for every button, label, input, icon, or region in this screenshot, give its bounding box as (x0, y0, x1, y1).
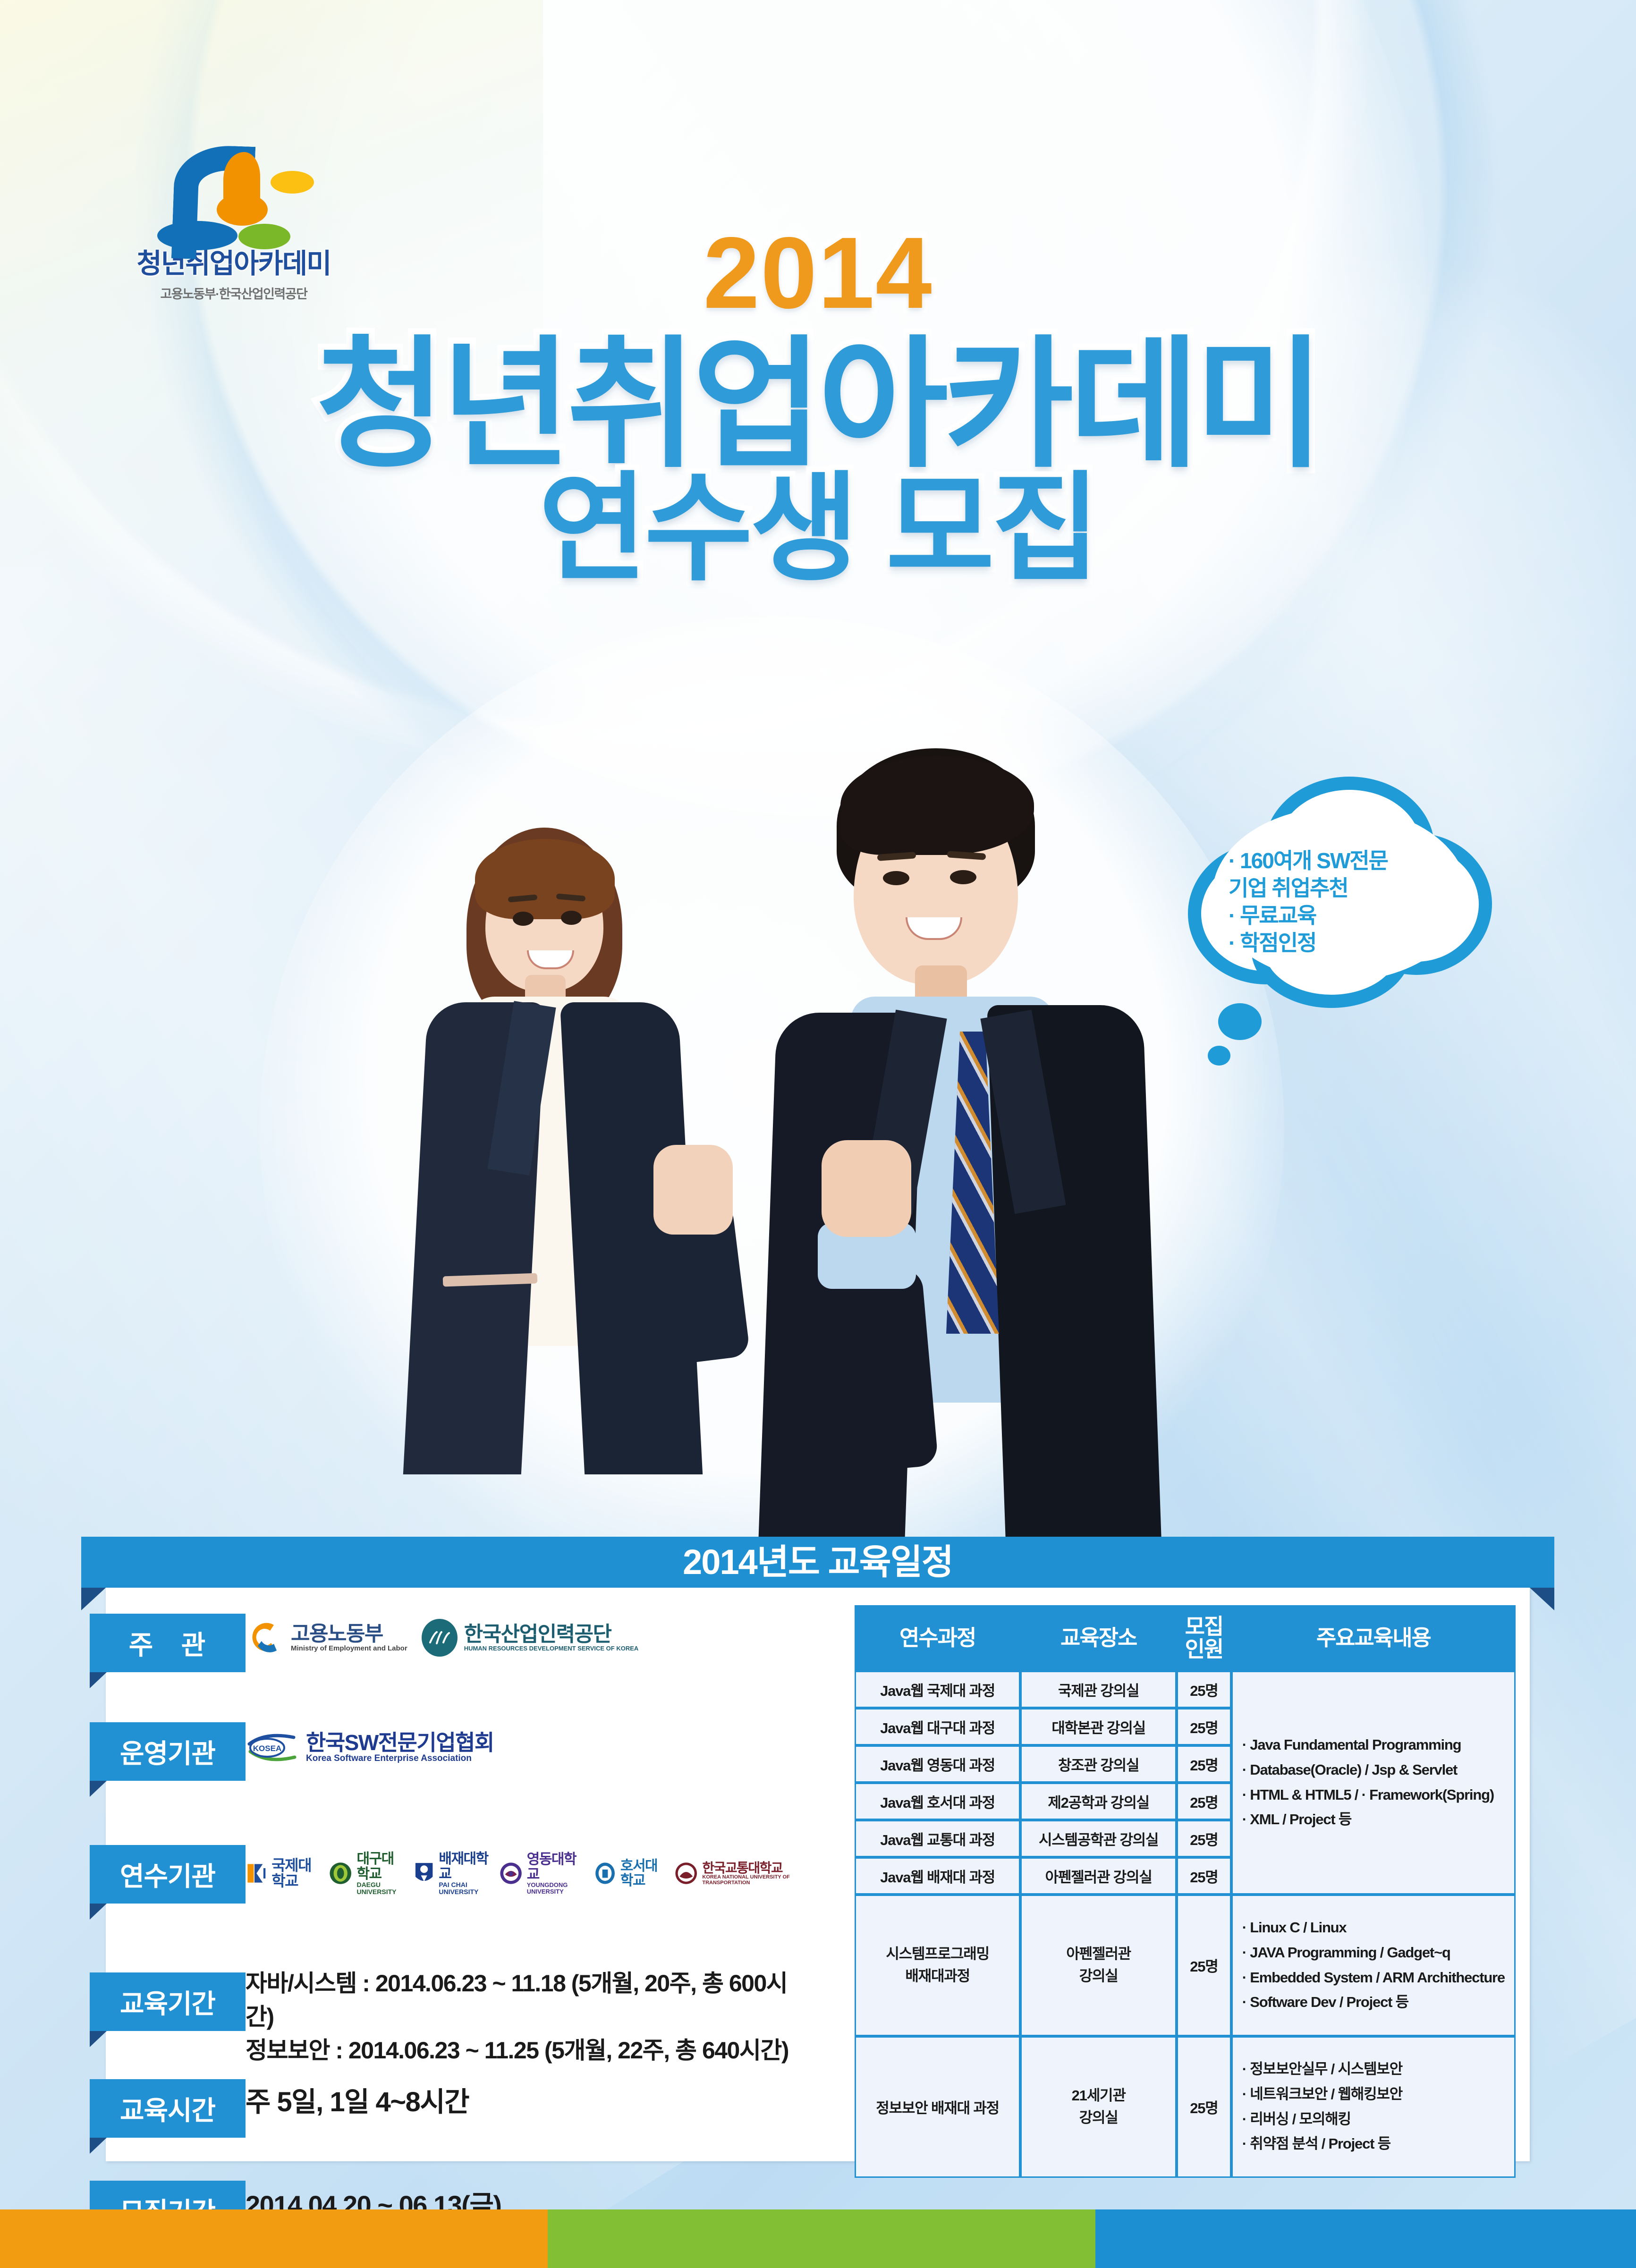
logo-kr: 대구대학교 (356, 1852, 405, 1881)
row-label-host: 주 관 (90, 1614, 246, 1672)
hoseo-university-logo-icon (594, 1858, 616, 1889)
institution-logos: 국제대학교 대구대학교 DAEGU UNIVERSITY (246, 1852, 803, 1895)
logo-kr: 한국산업인력공단 (464, 1624, 639, 1645)
footer-bar-orange (0, 2209, 548, 2268)
cell-place: 아펜젤러관 강의실 (1020, 1857, 1177, 1895)
content-line: · Database(Oracle) / Jsp & Servlet (1242, 1758, 1505, 1783)
headline-subtitle: 연수생 모집 (0, 467, 1636, 591)
hrdkorea-logo-icon (420, 1618, 459, 1658)
row-label-institutions: 연수기관 (90, 1845, 246, 1904)
cell-place: 시스템공학관 강의실 (1020, 1820, 1177, 1857)
knut-university-logo: 한국교통대학교 KOREA NATIONAL UNIVERSITY OF TRA… (675, 1857, 803, 1890)
info-row-institutions: 연수기관 국제대학교 (0, 1822, 803, 1959)
youngdong-university-logo: 영동대학교 YOUNGDONG UNIVERSITY (500, 1852, 585, 1895)
logo-kr: 영동대학교 (527, 1852, 585, 1882)
logo-en: KOREA NATIONAL UNIVERSITY OF TRANSPORTAT… (702, 1875, 803, 1886)
daegu-university-logo: 대구대학교 DAEGU UNIVERSITY (329, 1852, 405, 1895)
content-line: · HTML & HTML5 / · Framework(Spring) (1242, 1783, 1505, 1808)
logo-en: Ministry of Employment and Labor (291, 1645, 407, 1652)
knut-university-logo-icon (675, 1857, 697, 1890)
info-row-period: 교육기간 자바/시스템 : 2014.06.23 ~ 11.18 (5개월, 2… (0, 1959, 803, 2073)
table-header-row: 연수과정 교육장소 모집 인원 주요교육내용 (855, 1605, 1516, 1671)
footer-bar-green (548, 2209, 1095, 2268)
youngdong-university-logo-icon (500, 1858, 522, 1889)
cell-course: Java웹 국제대 과정 (855, 1671, 1020, 1708)
moel-logo: 고용노동부 Ministry of Employment and Labor (246, 1617, 407, 1658)
content-line: · Linux C / Linux (1242, 1915, 1505, 1940)
logo-kr: 국제대학교 (271, 1858, 320, 1889)
paichai-university-logo: 배재대학교 PAI CHAI UNIVERSITY (414, 1852, 490, 1895)
footer-bar-blue (1095, 2209, 1636, 2268)
table-row: 시스템프로그래밍 배재대과정 아펜젤러관 강의실 25명 · Linux C /… (855, 1895, 1516, 2036)
footer-color-bar (0, 2209, 1636, 2268)
daegu-university-logo-icon (329, 1858, 352, 1889)
content-line: · 네트워크보안 / 웹해킹보안 (1242, 2082, 1505, 2107)
cell-place: 창조관 강의실 (1020, 1745, 1177, 1783)
content-line: · JAVA Programming / Gadget~q (1242, 1940, 1505, 1965)
bubble-tail-large (1218, 1003, 1262, 1040)
cell-place: 대학본관 강의실 (1020, 1708, 1177, 1745)
cell-place: 21세기관 강의실 (1020, 2036, 1177, 2178)
moel-logo-icon (246, 1617, 286, 1658)
cell-quota: 25명 (1177, 1783, 1231, 1820)
cell-quota: 25명 (1177, 1820, 1231, 1857)
logo-kr: 한국교통대학교 (702, 1861, 803, 1875)
logo-en: PAI CHAI UNIVERSITY (439, 1881, 490, 1895)
paichai-university-logo-icon (414, 1857, 434, 1889)
logo-kr: 호서대학교 (620, 1859, 665, 1888)
brand-logo: 청년취업아카데미 고용노동부·한국산업인력공단 (120, 142, 347, 302)
cell-course: Java웹 대구대 과정 (855, 1708, 1020, 1745)
cell-course: Java웹 영동대 과정 (855, 1745, 1020, 1783)
header-fold-right-icon (1530, 1588, 1554, 1610)
cell-course: Java웹 호서대 과정 (855, 1783, 1020, 1820)
content-line: · 리버싱 / 모의해킹 (1242, 2107, 1505, 2132)
hoseo-university-logo: 호서대학교 (594, 1858, 665, 1889)
col-course: 연수과정 (855, 1605, 1020, 1671)
info-rows: 주 관 고용노동부 Ministry of Employment (0, 1605, 803, 2268)
content-line: · 취약점 분석 / Project 등 (1242, 2132, 1505, 2157)
col-quota: 모집 인원 (1177, 1605, 1231, 1671)
brand-subtitle: 고용노동부·한국산업인력공단 (120, 284, 347, 302)
cell-quota: 25명 (1177, 1745, 1231, 1783)
course-table: 연수과정 교육장소 모집 인원 주요교육내용 Java웹 국제대 과정 국제관 … (855, 1605, 1516, 2178)
content-line: · Software Dev / Project 등 (1242, 1990, 1505, 2015)
cell-quota: 25명 (1177, 1708, 1231, 1745)
logo-en: Korea Software Enterprise Association (306, 1754, 494, 1763)
benefits-thought-bubble: · 160여개 SW전문 기업 취업추천 · 무료교육 · 학점인정 (1185, 777, 1497, 1027)
bubble-item: · 학점인정 (1229, 930, 1465, 957)
logo-kr: 배재대학교 (439, 1852, 490, 1881)
logo-kr: 한국SW전문기업협회 (306, 1731, 494, 1754)
row-label-hours: 교육시간 (90, 2079, 246, 2138)
cell-quota: 25명 (1177, 1671, 1231, 1708)
cell-course: Java웹 배재대 과정 (855, 1857, 1020, 1895)
schedule-section-header: 2014년도 교육일정 (81, 1537, 1554, 1588)
content-line: · Java Fundamental Programming (1242, 1733, 1505, 1758)
kookje-university-logo: 국제대학교 (246, 1858, 320, 1889)
poster-root: 청년취업아카데미 고용노동부·한국산업인력공단 2014 청년취업아카데미 연수… (0, 0, 1636, 2268)
schedule-section-title: 2014년도 교육일정 (81, 1537, 1554, 1588)
cell-course: 정보보안 배재대 과정 (855, 2036, 1020, 2178)
row-label-operator: 운영기관 (90, 1722, 246, 1781)
content-line: · Embedded System / ARM Archithecture (1242, 1965, 1505, 1990)
svg-text:KOSEA: KOSEA (253, 1744, 281, 1753)
cell-content-java: · Java Fundamental Programming · Databas… (1231, 1671, 1516, 1895)
cell-quota: 25명 (1177, 2036, 1231, 2178)
cell-quota: 25명 (1177, 1895, 1231, 2036)
headline-title: 청년취업아카데미 (0, 334, 1636, 475)
academy-logo-icon (120, 142, 347, 238)
info-row-operator: 운영기관 KOSEA 한국SW전문기업협회 Korea Software Ent… (0, 1714, 803, 1822)
bubble-tail-small (1208, 1046, 1230, 1066)
cell-content-security: · 정보보안실무 / 시스템보안 · 네트워크보안 / 웹해킹보안 · 리버싱 … (1231, 2036, 1516, 2178)
hrdkorea-logo: 한국산업인력공단 HUMAN RESOURCES DEVELOPMENT SER… (420, 1618, 639, 1658)
bubble-item: · 무료교육 (1229, 902, 1465, 930)
cell-course: 시스템프로그래밍 배재대과정 (855, 1895, 1020, 2036)
logo-kr: 고용노동부 (291, 1623, 407, 1645)
logo-en: HUMAN RESOURCES DEVELOPMENT SERVICE OF K… (464, 1645, 639, 1652)
kookje-university-logo-icon (246, 1858, 267, 1889)
cell-place: 국제관 강의실 (1020, 1671, 1177, 1708)
bubble-text: · 160여개 SW전문 기업 취업추천 · 무료교육 · 학점인정 (1229, 847, 1465, 957)
cell-course: Java웹 교통대 과정 (855, 1820, 1020, 1857)
period-line: 자바/시스템 : 2014.06.23 ~ 11.18 (5개월, 20주, 총… (246, 1967, 803, 2034)
host-logos: 고용노동부 Ministry of Employment and Labor 한… (246, 1617, 638, 1658)
kosea-logo: KOSEA 한국SW전문기업협회 Korea Software Enterpri… (246, 1730, 494, 1765)
info-row-hours: 교육시간 주 5일, 1일 4~8시간 (0, 2073, 803, 2174)
content-line: · 정보보안실무 / 시스템보안 (1242, 2057, 1505, 2082)
cell-place: 아펜젤러관 강의실 (1020, 1895, 1177, 2036)
cell-quota: 25명 (1177, 1857, 1231, 1895)
col-place: 교육장소 (1020, 1605, 1177, 1671)
cell-place: 제2공학과 강의실 (1020, 1783, 1177, 1820)
period-line: 정보보안 : 2014.06.23 ~ 11.25 (5개월, 22주, 총 6… (246, 2034, 803, 2067)
hours-value: 주 5일, 1일 4~8시간 (246, 2083, 469, 2122)
logo-en: DAEGU UNIVERSITY (356, 1881, 405, 1895)
table-row: Java웹 국제대 과정 국제관 강의실 25명 · Java Fundamen… (855, 1671, 1516, 1708)
content-line: · XML / Project 등 (1242, 1807, 1505, 1832)
col-content: 주요교육내용 (1231, 1605, 1516, 1671)
kosea-logo-icon: KOSEA (246, 1730, 297, 1765)
bubble-item: 기업 취업추천 (1229, 875, 1465, 902)
table-row: 정보보안 배재대 과정 21세기관 강의실 25명 · 정보보안실무 / 시스템… (855, 2036, 1516, 2178)
row-label-period: 교육기간 (90, 1972, 246, 2031)
students-photo (359, 729, 1185, 1532)
info-row-host: 주 관 고용노동부 Ministry of Employment (0, 1605, 803, 1714)
cell-content-system: · Linux C / Linux · JAVA Programming / G… (1231, 1895, 1516, 2036)
bubble-item: · 160여개 SW전문 (1229, 847, 1465, 875)
logo-en: YOUNGDONG UNIVERSITY (527, 1882, 585, 1895)
